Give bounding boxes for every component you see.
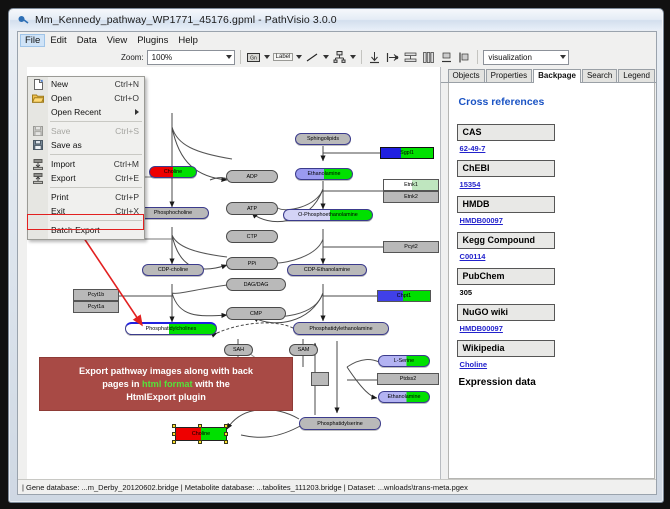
chevron-down-icon-2	[560, 55, 566, 59]
common-width-icon[interactable]	[439, 50, 454, 65]
menu-item-shortcut: Ctrl+M	[114, 159, 144, 169]
menu-item-label: Import	[48, 159, 114, 169]
app-area: File Edit Data View Plugins Help Zoom: 1…	[17, 31, 657, 495]
menu-item-shortcut: Ctrl+P	[115, 192, 144, 202]
toolbar-separator-3	[477, 50, 478, 64]
screen: Mm_Kennedy_pathway_WP1771_45176.gpml - P…	[0, 0, 670, 509]
menu-item-open[interactable]: Open Ctrl+O	[28, 91, 144, 105]
reference-name: ChEBI	[457, 160, 555, 177]
reference-name: HMDB	[457, 196, 555, 213]
menu-item-shortcut: Ctrl+E	[115, 173, 144, 183]
distribute-horizontal-icon[interactable]	[421, 50, 436, 65]
menu-separator-3	[50, 187, 142, 188]
chevron-down-icon	[226, 55, 232, 59]
align-left-icon[interactable]	[385, 50, 400, 65]
menu-item-shortcut: Ctrl+O	[114, 93, 144, 103]
window-title: Mm_Kennedy_pathway_WP1771_45176.gpml - P…	[35, 14, 337, 26]
menu-separator-1	[50, 121, 142, 122]
batch-export-highlight	[27, 214, 144, 230]
line-dropdown-icon[interactable]	[323, 55, 329, 59]
open-folder-icon	[28, 91, 48, 105]
label-dropdown-icon[interactable]	[296, 55, 302, 59]
reference-value-link[interactable]: HMDB00097	[460, 324, 503, 333]
line-tool-icon[interactable]	[305, 50, 320, 65]
menu-separator-2	[50, 154, 142, 155]
interaction-dropdown-icon[interactable]	[350, 55, 356, 59]
zoom-combobox[interactable]: 100%	[147, 50, 235, 65]
menu-help[interactable]: Help	[173, 34, 203, 47]
reference-wikipedia: Wikipedia Choline	[457, 338, 646, 370]
menu-item-label: Open	[48, 93, 114, 103]
interaction-tool-icon[interactable]	[332, 50, 347, 65]
visualization-combobox[interactable]: visualization	[483, 50, 569, 65]
visualization-value: visualization	[488, 53, 532, 62]
menu-file[interactable]: File	[20, 34, 45, 47]
menu-plugins[interactable]: Plugins	[132, 34, 173, 47]
menu-item-import[interactable]: Import Ctrl+M	[28, 157, 144, 171]
datanode-dropdown-icon[interactable]	[264, 55, 270, 59]
menu-item-save: Save Ctrl+S	[28, 124, 144, 138]
label-tool-icon[interactable]: Label	[273, 53, 294, 61]
reference-cas: CAS 62-49-7	[457, 122, 646, 154]
save-disk-icon	[28, 124, 48, 138]
reference-name: NuGO wiki	[457, 304, 555, 321]
side-panel: Objects Properties Backpage Search Legen…	[441, 67, 656, 480]
new-file-icon	[28, 77, 48, 91]
menu-item-open-recent[interactable]: Open Recent	[28, 105, 144, 119]
tab-legend[interactable]: Legend	[618, 69, 655, 82]
menu-item-print[interactable]: Print Ctrl+P	[28, 190, 144, 204]
menu-item-label: New	[48, 79, 115, 89]
menu-edit[interactable]: Edit	[45, 34, 71, 47]
reference-value-link[interactable]: 15354	[460, 180, 481, 189]
menu-item-save-as[interactable]: Save as	[28, 138, 144, 152]
reference-chebi: ChEBI 15354	[457, 158, 646, 190]
datanode-tool-icon[interactable]: Gn	[246, 50, 261, 65]
blank-icon	[28, 190, 48, 204]
cross-references-heading: Cross references	[459, 96, 646, 108]
reference-value-link[interactable]: 62-49-7	[460, 144, 486, 153]
zoom-value: 100%	[152, 53, 172, 62]
reference-value: 305	[460, 288, 473, 297]
reference-name: Wikipedia	[457, 340, 555, 357]
save-as-icon	[28, 138, 48, 152]
toolbar-separator	[240, 50, 241, 64]
tab-backpage[interactable]: Backpage	[533, 69, 581, 83]
menu-item-label: Print	[48, 192, 115, 202]
title-bar: Mm_Kennedy_pathway_WP1771_45176.gpml - P…	[10, 10, 662, 30]
reference-name: Kegg Compound	[457, 232, 555, 249]
svg-text:Gn: Gn	[250, 55, 257, 61]
menu-view[interactable]: View	[102, 34, 132, 47]
reference-value-link[interactable]: C00114	[460, 252, 486, 261]
blank-icon	[28, 105, 48, 119]
reference-name: CAS	[457, 124, 555, 141]
menu-item-label: Save	[48, 126, 115, 136]
tab-properties[interactable]: Properties	[486, 69, 532, 82]
export-icon	[28, 171, 48, 185]
menu-item-shortcut: Ctrl+S	[115, 126, 144, 136]
menu-data[interactable]: Data	[72, 34, 102, 47]
reference-pubchem: PubChem 305	[457, 266, 646, 298]
reference-name: PubChem	[457, 268, 555, 285]
panel-tabs: Objects Properties Backpage Search Legen…	[441, 67, 656, 83]
submenu-arrow-icon	[135, 109, 139, 115]
menu-item-label: Save as	[48, 140, 139, 150]
distribute-vertical-icon[interactable]	[403, 50, 418, 65]
status-text: | Gene database: ...m_Derby_20120602.bri…	[18, 483, 468, 492]
application-window: Mm_Kennedy_pathway_WP1771_45176.gpml - P…	[8, 8, 664, 503]
menu-item-label: Export	[48, 173, 115, 183]
tab-search[interactable]: Search	[582, 69, 617, 82]
zoom-label: Zoom:	[121, 53, 144, 62]
toolbar: Zoom: 100% Gn Label	[18, 47, 656, 68]
reference-value-link[interactable]: Choline	[460, 360, 488, 369]
backpage-content: Cross references CAS 62-49-7 ChEBI 15354…	[448, 83, 655, 479]
menu-item-shortcut: Ctrl+N	[115, 79, 144, 89]
reference-hmdb: HMDB HMDB00097	[457, 194, 646, 226]
menu-item-label: Open Recent	[48, 107, 135, 117]
reference-value-link[interactable]: HMDB00097	[460, 216, 503, 225]
import-icon	[28, 157, 48, 171]
align-top-icon[interactable]	[367, 50, 382, 65]
tab-objects[interactable]: Objects	[448, 69, 485, 82]
menu-item-new[interactable]: New Ctrl+N	[28, 77, 144, 91]
menu-item-export[interactable]: Export Ctrl+E	[28, 171, 144, 185]
toolbar-separator-2	[361, 50, 362, 64]
common-height-icon[interactable]	[457, 50, 472, 65]
pathvisio-app-icon	[17, 14, 30, 27]
reference-nugo-wiki: NuGO wiki HMDB00097	[457, 302, 646, 334]
status-bar: | Gene database: ...m_Derby_20120602.bri…	[18, 479, 656, 494]
reference-kegg-compound: Kegg Compound C00114	[457, 230, 646, 262]
file-menu-dropdown[interactable]: New Ctrl+N Open Ctrl+O Open Recent	[27, 76, 145, 240]
expression-data-heading: Expression data	[459, 377, 646, 388]
menu-bar: File Edit Data View Plugins Help	[18, 32, 656, 47]
